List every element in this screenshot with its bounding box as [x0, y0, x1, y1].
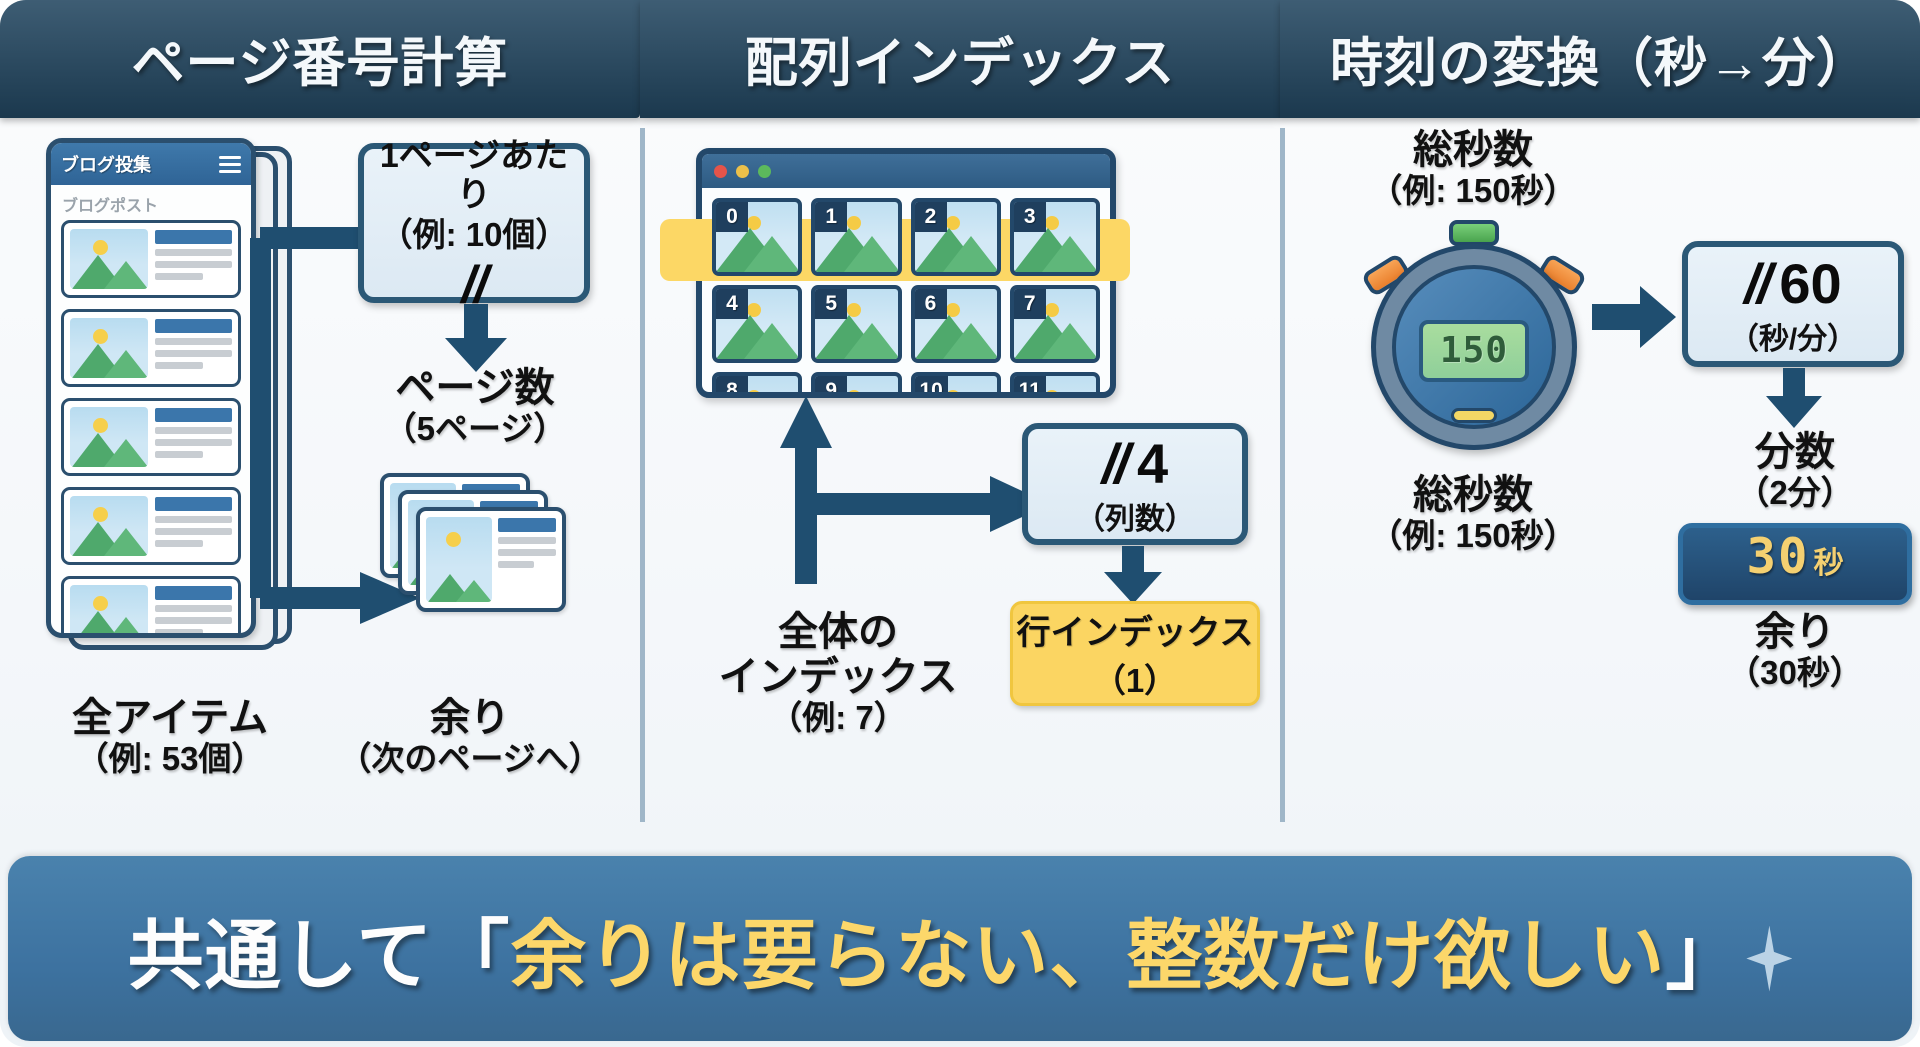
- image-grid: 0 1 2 3 4 5 6 7 8 9 10 11: [702, 188, 1110, 398]
- cell-index: 5: [815, 289, 847, 319]
- columns-value: 4: [1137, 432, 1168, 495]
- remainder-card-stack: [380, 473, 590, 623]
- blog-section-label: ブログポスト: [51, 185, 251, 220]
- panel-1-header: ページ番号計算: [0, 0, 640, 118]
- banner-highlight: 余りは要らない、整数だけ欲しい: [510, 914, 1665, 999]
- columns-operation: //4: [1102, 431, 1168, 496]
- minutes-title: 分数: [1650, 430, 1920, 475]
- blog-app-title: ブログ投集: [61, 151, 151, 177]
- grid-cell-highlighted[interactable]: 7: [1010, 285, 1100, 363]
- divisor-value: 60: [1779, 252, 1841, 315]
- columns-note: （列数）: [1075, 494, 1195, 538]
- banner-suffix: 」: [1665, 914, 1742, 999]
- list-item: [61, 220, 241, 298]
- total-seconds-value-top: （例: 150秒）: [1308, 173, 1638, 210]
- image-placeholder-icon: [70, 318, 148, 378]
- banner-prefix: 共通して「: [128, 914, 511, 999]
- overall-index-value: （例: 7）: [688, 700, 988, 737]
- grid-cell[interactable]: 3: [1010, 198, 1100, 276]
- remainder-seconds-number: 30: [1746, 528, 1809, 585]
- stopwatch-display: 150: [1419, 320, 1529, 382]
- remainder-label-panel3: 余り （30秒）: [1650, 610, 1920, 692]
- list-item: [61, 576, 241, 638]
- image-placeholder-icon: [70, 585, 148, 638]
- remainder-title-panel3: 余り: [1650, 610, 1920, 655]
- panel-1-body: ブログ投集 ブログポスト: [0, 118, 640, 840]
- per-page-label: 1ページあたり: [364, 137, 584, 215]
- blog-list-card: ブログ投集 ブログポスト: [46, 138, 256, 638]
- arrow-to-divisor-60: [1592, 286, 1678, 348]
- minutes-label: 分数 （2分）: [1650, 430, 1920, 512]
- panel-time-conversion: 時刻の変換（秒→分） 総秒数 （例: 150秒） 150: [1280, 0, 1920, 840]
- image-placeholder-icon: [426, 517, 492, 602]
- total-seconds-title-bottom: 総秒数: [1308, 473, 1638, 518]
- all-items-value: （例: 53個）: [30, 741, 310, 778]
- image-placeholder-icon: [70, 407, 148, 467]
- panel-array-index: 配列インデックス 0 1 2 3 4: [640, 0, 1280, 840]
- stopwatch-bottom-button: [1451, 408, 1497, 423]
- cell-index: 2: [915, 202, 947, 232]
- maximize-dot-icon[interactable]: [758, 165, 771, 178]
- arrow-to-row-index: [1100, 546, 1166, 606]
- row-index-result-box: 行インデックス （1）: [1010, 601, 1260, 706]
- list-item: [61, 487, 241, 565]
- all-items-label: 全アイテム （例: 53個）: [30, 696, 310, 778]
- cell-index: 4: [716, 289, 748, 319]
- grid-cell-highlighted[interactable]: 5: [811, 285, 901, 363]
- panel-2-title: 配列インデックス: [745, 21, 1175, 97]
- cell-index: 6: [915, 289, 947, 319]
- floor-division-operator: //: [1102, 432, 1127, 495]
- divisor-box-columns: //4 （列数）: [1022, 423, 1248, 545]
- infographic-root: ページ番号計算 ブログ投集 ブログポスト: [0, 0, 1920, 1047]
- panels-container: ページ番号計算 ブログ投集 ブログポスト: [0, 0, 1920, 840]
- seconds-operation: //60: [1744, 251, 1841, 316]
- grid-cell[interactable]: 2: [911, 198, 1001, 276]
- total-seconds-label-bottom: 総秒数 （例: 150秒）: [1308, 473, 1638, 555]
- cell-index: 0: [716, 202, 748, 232]
- image-placeholder-icon: [70, 229, 148, 289]
- window-title-bar: [702, 154, 1110, 188]
- page-count-title: ページ数: [330, 366, 620, 411]
- grid-cell[interactable]: 0: [712, 198, 802, 276]
- grid-cell-highlighted[interactable]: 4: [712, 285, 802, 363]
- page-count-label: ページ数 （5ページ）: [330, 366, 620, 448]
- arrow-to-minutes: [1762, 368, 1826, 430]
- cell-index: 7: [1014, 289, 1046, 319]
- hamburger-icon[interactable]: [219, 156, 241, 173]
- remainder-value-panel3: （30秒）: [1650, 655, 1920, 692]
- panel-page-number-calculation: ページ番号計算 ブログ投集 ブログポスト: [0, 0, 640, 840]
- overall-index-line1: 全体の: [688, 610, 988, 655]
- image-placeholder-icon: [70, 496, 148, 556]
- panel-3-header: 時刻の変換（秒→分）: [1280, 0, 1920, 118]
- stopwatch-crown-button: [1449, 220, 1499, 246]
- cell-index: 8: [716, 376, 748, 398]
- panel-3-body: 総秒数 （例: 150秒） 150: [1280, 118, 1920, 840]
- panel-2-body: 0 1 2 3 4 5 6 7 8 9 10 11: [640, 118, 1280, 840]
- remainder-seconds-badge: 30 秒: [1678, 523, 1912, 605]
- blog-app-bar: ブログ投集: [51, 143, 251, 185]
- remainder-label-panel1: 余り （次のページへ）: [320, 696, 620, 778]
- divisor-box-per-page: 1ページあたり （例: 10個） //: [358, 143, 590, 303]
- per-page-example: （例: 10個）: [380, 215, 569, 255]
- divisor-note: （秒/分）: [1729, 314, 1857, 358]
- page-count-value: （5ページ）: [330, 411, 620, 448]
- overall-index-label: 全体の インデックス （例: 7）: [688, 610, 988, 737]
- total-seconds-label-top: 総秒数 （例: 150秒）: [1308, 128, 1638, 210]
- panel-3-title: 時刻の変換（秒→分）: [1330, 21, 1870, 97]
- stopwatch-display-value: 150: [1440, 330, 1508, 371]
- close-dot-icon[interactable]: [714, 165, 727, 178]
- panel-2-header: 配列インデックス: [640, 0, 1280, 118]
- summary-banner: 共通して「余りは要らない、整数だけ欲しい」: [8, 856, 1912, 1041]
- panel-1-title: ページ番号計算: [132, 21, 509, 97]
- floor-division-operator: //: [1744, 252, 1769, 315]
- row-index-title: 行インデックス: [1017, 605, 1254, 654]
- minimize-dot-icon[interactable]: [736, 165, 749, 178]
- list-item: [61, 398, 241, 476]
- cell-index: 3: [1014, 202, 1046, 232]
- overall-index-line2: インデックス: [688, 655, 988, 700]
- total-seconds-value-bottom: （例: 150秒）: [1308, 518, 1638, 555]
- stopwatch-icon: 150: [1360, 218, 1588, 456]
- remainder-value: （次のページへ）: [320, 741, 620, 778]
- list-item: [61, 309, 241, 387]
- gallery-window: 0 1 2 3 4 5 6 7 8 9 10 11: [696, 148, 1116, 398]
- row-index-value: （1）: [1093, 654, 1177, 702]
- minutes-value: （2分）: [1650, 475, 1920, 512]
- cell-index: 1: [815, 202, 847, 232]
- grid-cell-highlighted[interactable]: 6: [911, 285, 1001, 363]
- remainder-seconds-unit: 秒: [1814, 538, 1844, 582]
- remainder-title: 余り: [320, 696, 620, 741]
- divisor-box-60: //60 （秒/分）: [1682, 241, 1904, 367]
- arrow-to-page-count: [441, 304, 511, 374]
- grid-cell[interactable]: 1: [811, 198, 901, 276]
- remainder-card-front: [416, 507, 566, 612]
- all-items-title: 全アイテム: [30, 696, 310, 741]
- total-seconds-title-top: 総秒数: [1308, 128, 1638, 173]
- banner-text: 共通して「余りは要らない、整数だけ欲しい」: [128, 894, 1793, 1004]
- stopwatch-body: 150: [1371, 244, 1577, 450]
- sparkle-icon: [1746, 926, 1792, 992]
